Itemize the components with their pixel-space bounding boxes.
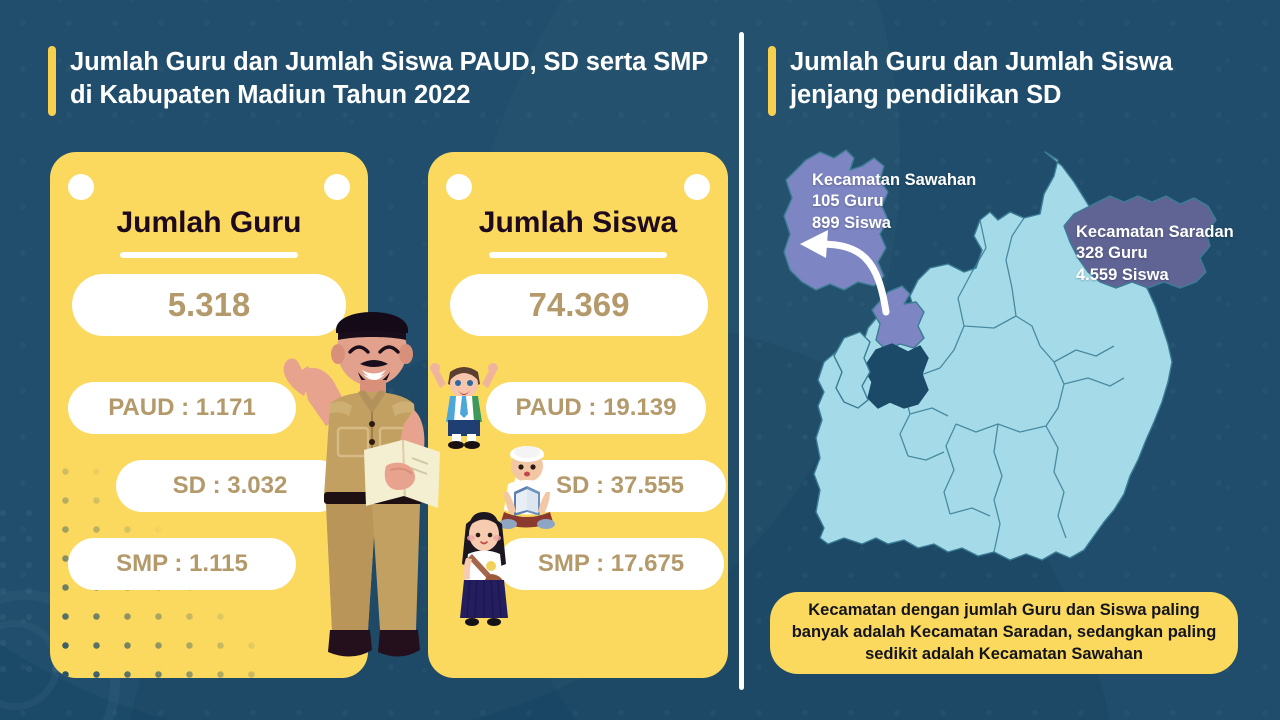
- title-accent-bar-left: [48, 46, 56, 116]
- card-siswa-rule: [489, 252, 667, 258]
- siswa-paud-pill: PAUD : 19.139: [486, 382, 706, 434]
- card-hole-right-icon: [684, 174, 710, 200]
- sawahan-guru: 105 Guru: [812, 191, 976, 212]
- siswa-total-pill: 74.369: [450, 274, 708, 336]
- title-accent-bar-right: [768, 46, 776, 116]
- map-label-sawahan: Kecamatan Sawahan 105 Guru 899 Siswa: [812, 170, 976, 234]
- infographic-stage: Jumlah Guru dan Jumlah Siswa PAUD, SD se…: [0, 0, 1280, 720]
- saradan-siswa: 4.559 Siswa: [1076, 265, 1234, 286]
- map-district-inset-dark: [864, 344, 928, 408]
- card-hole-right-icon: [324, 174, 350, 200]
- guru-smp-pill: SMP : 1.115: [68, 538, 296, 590]
- conclusion-text: Kecamatan dengan jumlah Guru dan Siswa p…: [788, 600, 1220, 666]
- paud-student-icon: [428, 358, 500, 450]
- card-guru-rule: [120, 252, 298, 258]
- saradan-name: Kecamatan Saradan: [1076, 222, 1234, 243]
- card-siswa-heading: Jumlah Siswa: [428, 206, 728, 240]
- conclusion-box: Kecamatan dengan jumlah Guru dan Siswa p…: [770, 592, 1238, 674]
- card-hole-left-icon: [446, 174, 472, 200]
- vertical-divider: [739, 32, 744, 690]
- right-title-block: Jumlah Guru dan Jumlah Siswa jenjang pen…: [768, 46, 1238, 116]
- card-guru-heading: Jumlah Guru: [50, 206, 368, 240]
- left-title-text: Jumlah Guru dan Jumlah Siswa PAUD, SD se…: [70, 46, 708, 111]
- guru-paud-pill: PAUD : 1.171: [68, 382, 296, 434]
- left-title-block: Jumlah Guru dan Jumlah Siswa PAUD, SD se…: [48, 46, 708, 116]
- card-hole-left-icon: [68, 174, 94, 200]
- siswa-smp-pill: SMP : 17.675: [498, 538, 724, 590]
- right-title-text: Jumlah Guru dan Jumlah Siswa jenjang pen…: [790, 46, 1238, 111]
- sawahan-name: Kecamatan Sawahan: [812, 170, 976, 191]
- smp-student-icon: [448, 508, 520, 628]
- sawahan-siswa: 899 Siswa: [812, 213, 976, 234]
- map-label-saradan: Kecamatan Saradan 328 Guru 4.559 Siswa: [1076, 222, 1234, 286]
- saradan-guru: 328 Guru: [1076, 243, 1234, 264]
